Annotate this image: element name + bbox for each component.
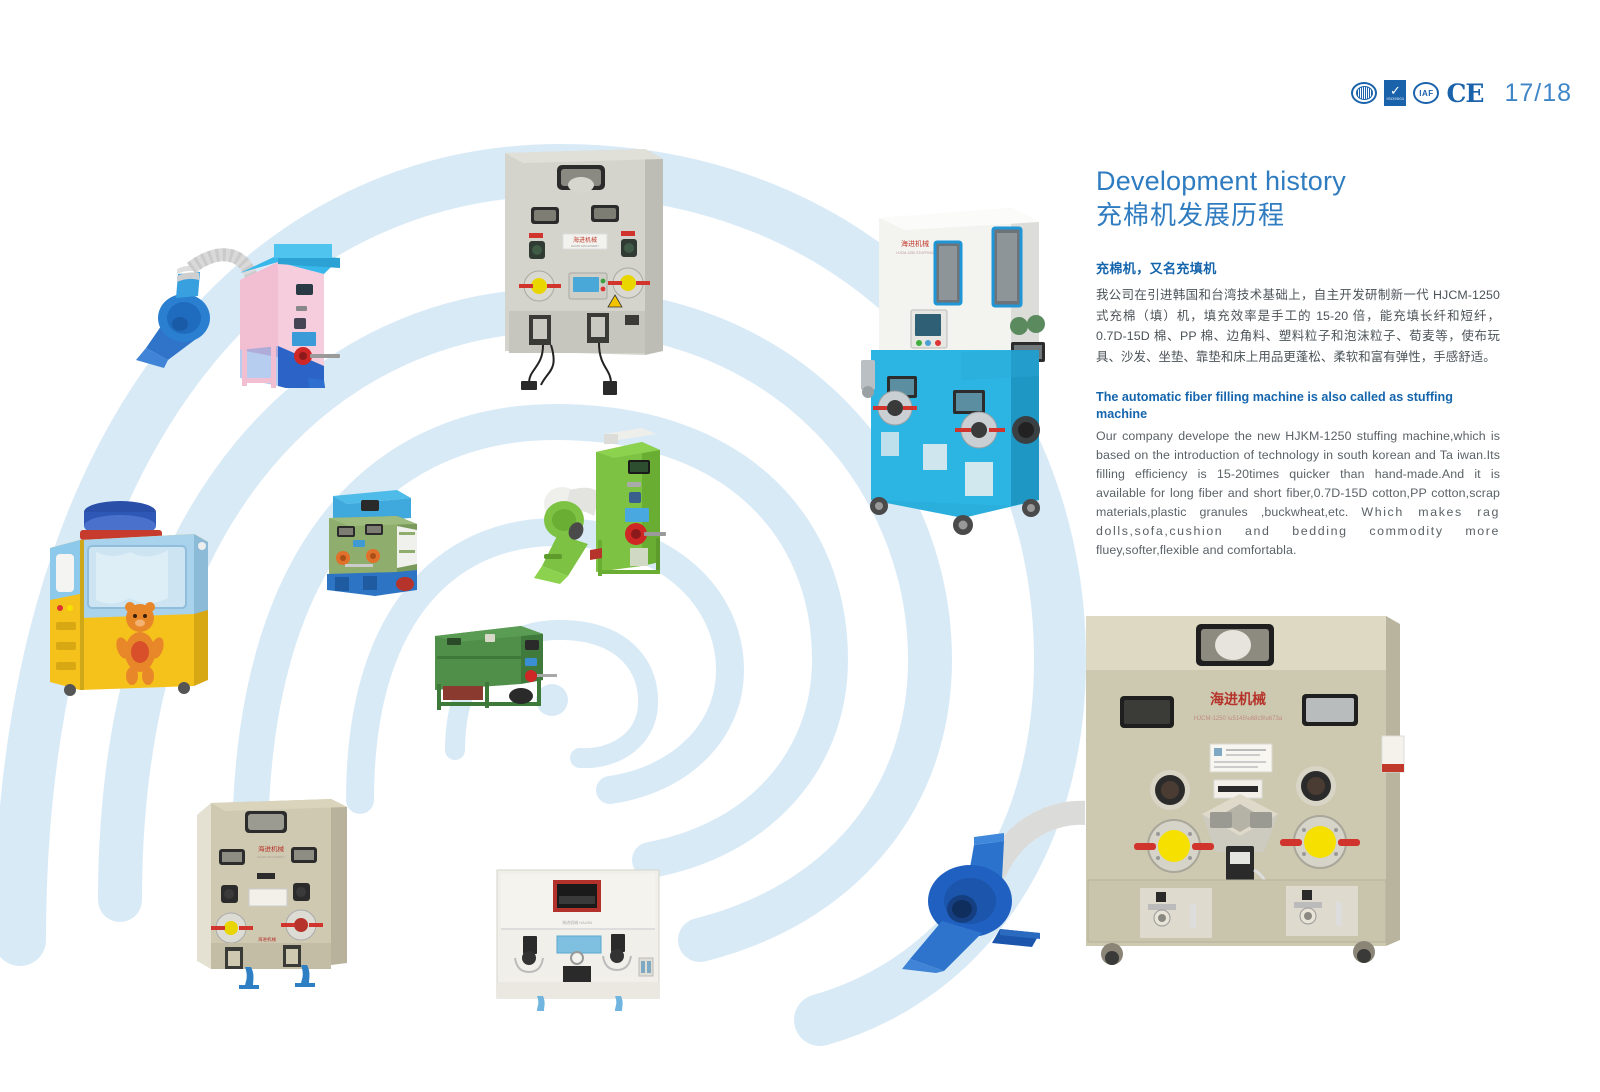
machine-white-wide-dual-nozzle-machine: 海进机械 HAIJIN <box>487 858 672 1013</box>
machine-blue-fiber-blower-unit <box>900 783 1085 973</box>
subtitle-chinese: 充棉机，又名充填机 <box>1096 260 1500 278</box>
brochure-page: ✓ISO9001 IAF CE 17/18 Development histor… <box>0 0 1600 1092</box>
body-english-part3: fluey,softer,flexible and comfortabla. <box>1096 543 1297 557</box>
machine-green-fiber-opening-machine <box>425 614 560 714</box>
machine-teddy-bear-ball-fiber-machine <box>44 490 229 705</box>
certification-bar: ✓ISO9001 IAF CE 17/18 <box>1351 78 1572 108</box>
subtitle-english: The automatic fiber filling machine is a… <box>1096 389 1500 423</box>
machine-blue-white-tall-fiber-opening-machine: 海进机械 HJCM-1250 STUFFING <box>843 200 1073 545</box>
svg-text:HAIJIN MACHINERY: HAIJIN MACHINERY <box>257 855 285 859</box>
machine-beige-dual-foot-pedal-stuffing-machine: 海进机械 HAIJIN MACHINERY 海进机械 <box>183 789 363 989</box>
machine-beige-large-dual-station-machine: 海进机械 HJCM-1250 \u5145\u68c9\u673a <box>1078 608 1408 988</box>
page-title-chinese: 充棉机发展历程 <box>1096 199 1500 232</box>
iso-certification-icon: ✓ISO9001 <box>1384 80 1406 106</box>
machine-grey-dual-station-stuffing-machine: 海进机械 HAIJIN MACHINERY <box>495 145 675 395</box>
page-title-english: Development history <box>1096 165 1500 197</box>
svg-text:海进机械: 海进机械 <box>1210 691 1266 707</box>
machine-blower-pink-stuffing-machine <box>128 228 378 388</box>
text-column: Development history 充棉机发展历程 充棉机，又名充填机 我公… <box>1096 165 1500 560</box>
svg-text:海进机械 HAIJIN: 海进机械 HAIJIN <box>562 919 592 925</box>
cnas-accreditation-icon <box>1351 82 1377 104</box>
pink-cabinet <box>240 244 340 388</box>
svg-text:海进机械: 海进机械 <box>258 844 285 853</box>
svg-text:HJCM-1250 \u5145\u68c9\u673a: HJCM-1250 \u5145\u68c9\u673a <box>1194 716 1283 722</box>
svg-text:HAIJIN MACHINERY: HAIJIN MACHINERY <box>571 244 599 248</box>
iaf-icon: IAF <box>1413 82 1439 104</box>
ce-mark-icon: CE <box>1446 81 1483 106</box>
svg-text:海进机械: 海进机械 <box>258 936 276 943</box>
svg-text:海进机械: 海进机械 <box>901 239 929 248</box>
page-number: 17/18 <box>1504 79 1572 108</box>
body-paragraph-english: Our company develope the new HJKM-1250 s… <box>1096 427 1500 560</box>
body-paragraph-chinese: 我公司在引进韩国和台湾技术基础上，自主开发研制新一代 HJCM-1250 式充棉… <box>1096 285 1500 367</box>
machine-green-blower-stuffing-machine <box>524 424 669 594</box>
svg-text:海进机械: 海进机械 <box>573 236 597 244</box>
svg-text:HJCM-1250 STUFFING: HJCM-1250 STUFFING <box>896 251 933 255</box>
machine-green-blue-carding-machine <box>305 478 437 598</box>
blower-unit-icon <box>136 265 210 368</box>
